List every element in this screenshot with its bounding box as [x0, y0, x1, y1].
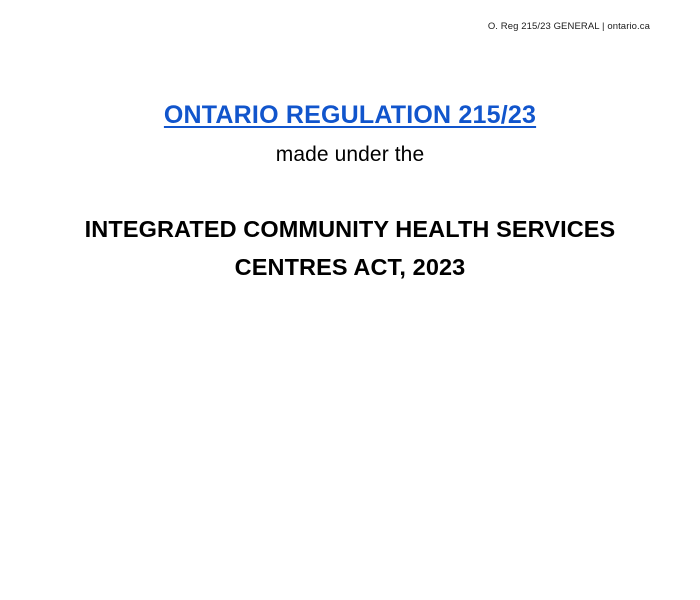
act-title: INTEGRATED COMMUNITY HEALTH SERVICES CEN… — [40, 170, 660, 286]
regulation-title-line: ONTARIO REGULATION 215/23 — [40, 100, 660, 134]
document-page: O. Reg 215/23 GENERAL | ontario.ca ONTAR… — [0, 0, 700, 600]
regulation-title-link[interactable]: ONTARIO REGULATION 215/23 — [164, 101, 536, 129]
blank-page-area — [0, 300, 700, 600]
act-title-line-2: CENTRES ACT, 2023 — [40, 248, 660, 286]
act-title-line-1: INTEGRATED COMMUNITY HEALTH SERVICES — [40, 210, 660, 248]
made-under-text: made under the — [40, 134, 660, 170]
running-header: O. Reg 215/23 GENERAL | ontario.ca — [0, 20, 650, 33]
title-block: ONTARIO REGULATION 215/23 made under the… — [40, 100, 660, 286]
